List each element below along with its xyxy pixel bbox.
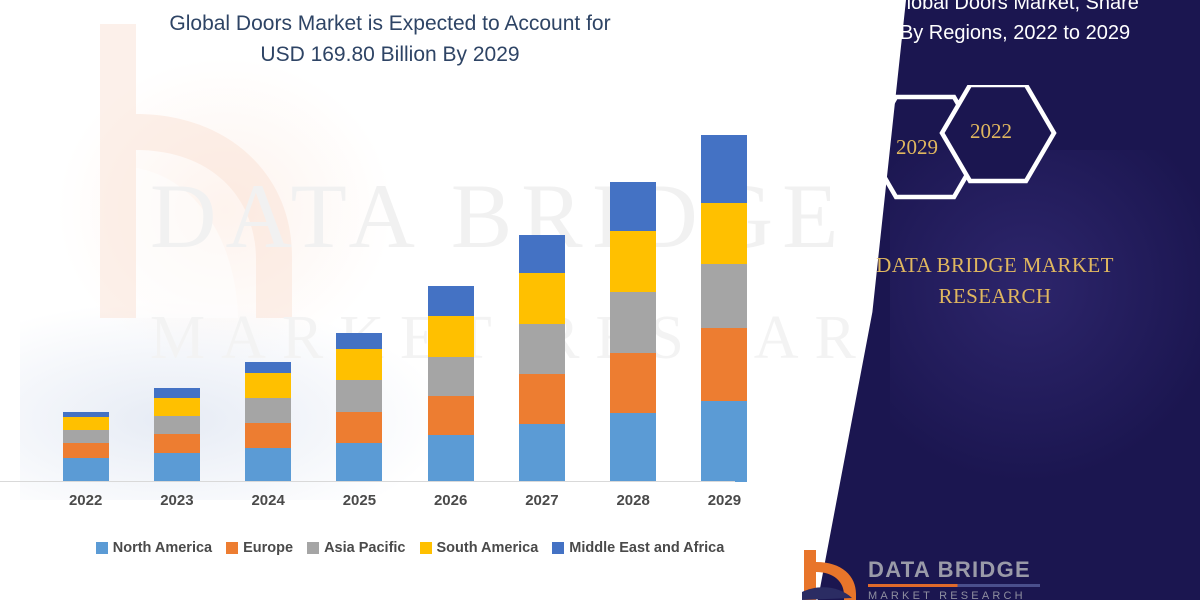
bar-segment-north-america[interactable]	[519, 424, 565, 482]
b-logo-icon	[800, 548, 858, 600]
bar-segment-asia-pacific[interactable]	[154, 416, 200, 434]
x-axis-label-2023: 2023	[132, 492, 222, 518]
chart-legend: North AmericaEuropeAsia PacificSouth Ame…	[40, 540, 780, 556]
bar-column-2023[interactable]	[132, 111, 222, 482]
legend-label: Europe	[243, 540, 293, 556]
bar-group	[40, 111, 770, 482]
x-axis-labels: 20222023202420252026202720282029	[40, 492, 770, 518]
bar-segment-asia-pacific[interactable]	[63, 430, 109, 443]
legend-item-north-america[interactable]: North America	[96, 540, 212, 556]
bar-column-2022[interactable]	[41, 111, 131, 482]
stacked-bar[interactable]	[610, 182, 656, 482]
bar-segment-south-america[interactable]	[154, 398, 200, 416]
plot-area	[40, 110, 770, 482]
bar-segment-middle-east-and-africa[interactable]	[245, 362, 291, 373]
bar-segment-europe[interactable]	[428, 396, 474, 435]
bar-segment-south-america[interactable]	[428, 316, 474, 357]
brand-name: DATA BRIDGE MARKET RESEARCH	[820, 250, 1170, 312]
bar-segment-europe[interactable]	[610, 353, 656, 413]
x-axis-label-2028: 2028	[588, 492, 678, 518]
bar-segment-europe[interactable]	[701, 328, 747, 401]
bar-segment-north-america[interactable]	[701, 401, 747, 482]
chart-title-line-1: Global Doors Market is Expected to Accou…	[60, 8, 720, 39]
legend-label: South America	[437, 540, 539, 556]
x-axis-line	[0, 481, 735, 482]
bar-segment-north-america[interactable]	[336, 443, 382, 482]
bar-segment-middle-east-and-africa[interactable]	[428, 286, 474, 316]
legend-swatch-icon	[96, 542, 108, 554]
bar-segment-north-america[interactable]	[63, 458, 109, 482]
footer-logo-rule	[868, 584, 1040, 587]
legend-item-europe[interactable]: Europe	[226, 540, 293, 556]
hexagon-2029-label: 2029	[896, 135, 938, 160]
stacked-bar[interactable]	[63, 412, 109, 482]
x-axis-label-2022: 2022	[41, 492, 131, 518]
bar-segment-europe[interactable]	[519, 374, 565, 424]
bar-column-2024[interactable]	[223, 111, 313, 482]
chart-title-line-2: USD 169.80 Billion By 2029	[60, 39, 720, 70]
stacked-bar[interactable]	[245, 362, 291, 482]
hexagon-2022-label: 2022	[970, 119, 1012, 144]
legend-item-south-america[interactable]: South America	[420, 540, 539, 556]
bar-segment-south-america[interactable]	[610, 231, 656, 292]
infographic-root: DATA BRIDGE MARKET RESEARCH Global Doors…	[0, 0, 1200, 600]
bar-segment-middle-east-and-africa[interactable]	[701, 135, 747, 203]
bar-segment-asia-pacific[interactable]	[245, 398, 291, 423]
bar-segment-europe[interactable]	[154, 434, 200, 453]
bar-segment-middle-east-and-africa[interactable]	[336, 333, 382, 349]
brand-panel-title-line-2: By Regions, 2022 to 2029	[840, 18, 1190, 48]
stacked-bar[interactable]	[428, 286, 474, 482]
bar-segment-south-america[interactable]	[701, 203, 747, 264]
footer-logo: DATA BRIDGE MARKET RESEARCH	[800, 548, 1200, 600]
legend-item-middle-east-and-africa[interactable]: Middle East and Africa	[552, 540, 724, 556]
page-title: Global Doors Market is Expected to Accou…	[60, 8, 720, 70]
bar-segment-middle-east-and-africa[interactable]	[519, 235, 565, 273]
bar-column-2026[interactable]	[406, 111, 496, 482]
legend-swatch-icon	[552, 542, 564, 554]
brand-panel-title: Global Doors Market, Share By Regions, 2…	[840, 0, 1190, 48]
x-axis-label-2029: 2029	[679, 492, 769, 518]
legend-label: Asia Pacific	[324, 540, 405, 556]
bar-segment-south-america[interactable]	[63, 417, 109, 430]
brand-panel: Global Doors Market, Share By Regions, 2…	[780, 0, 1200, 600]
stacked-bar[interactable]	[701, 135, 747, 482]
footer-logo-sub: MARKET RESEARCH	[868, 590, 1040, 600]
bar-segment-asia-pacific[interactable]	[336, 380, 382, 412]
stacked-bar[interactable]	[154, 388, 200, 482]
bar-segment-middle-east-and-africa[interactable]	[154, 388, 200, 398]
bar-segment-south-america[interactable]	[336, 349, 382, 380]
bar-column-2025[interactable]	[314, 111, 404, 482]
x-axis-label-2026: 2026	[406, 492, 496, 518]
stacked-bar[interactable]	[336, 333, 382, 482]
footer-logo-main: DATA BRIDGE	[868, 558, 1040, 582]
bar-segment-europe[interactable]	[245, 423, 291, 448]
bar-segment-asia-pacific[interactable]	[519, 324, 565, 374]
brand-name-line-1: DATA BRIDGE MARKET	[820, 250, 1170, 281]
legend-label: Middle East and Africa	[569, 540, 724, 556]
hexagon-badges: 2029 2022	[810, 85, 1200, 220]
bar-column-2027[interactable]	[497, 111, 587, 482]
bar-segment-europe[interactable]	[63, 443, 109, 458]
footer-logo-words: DATA BRIDGE MARKET RESEARCH	[868, 548, 1040, 600]
bar-segment-middle-east-and-africa[interactable]	[610, 182, 656, 231]
bar-column-2029[interactable]	[679, 111, 769, 482]
bar-segment-europe[interactable]	[336, 412, 382, 443]
stacked-bar[interactable]	[519, 235, 565, 482]
legend-swatch-icon	[420, 542, 432, 554]
brand-panel-title-line-1: Global Doors Market, Share	[840, 0, 1190, 18]
bar-segment-north-america[interactable]	[428, 435, 474, 482]
legend-label: North America	[113, 540, 212, 556]
brand-name-line-2: RESEARCH	[820, 281, 1170, 312]
legend-swatch-icon	[307, 542, 319, 554]
legend-swatch-icon	[226, 542, 238, 554]
bar-segment-asia-pacific[interactable]	[701, 264, 747, 328]
x-axis-label-2027: 2027	[497, 492, 587, 518]
x-axis-label-2024: 2024	[223, 492, 313, 518]
x-axis-label-2025: 2025	[314, 492, 404, 518]
bar-segment-south-america[interactable]	[519, 273, 565, 324]
legend-item-asia-pacific[interactable]: Asia Pacific	[307, 540, 405, 556]
bar-segment-asia-pacific[interactable]	[428, 357, 474, 396]
bar-column-2028[interactable]	[588, 111, 678, 482]
bar-segment-north-america[interactable]	[154, 453, 200, 482]
bar-segment-south-america[interactable]	[245, 373, 291, 398]
chart-panel: DATA BRIDGE MARKET RESEARCH Global Doors…	[0, 0, 900, 600]
hexagon-outline-icons	[810, 85, 1200, 220]
bar-segment-north-america[interactable]	[245, 448, 291, 482]
bar-segment-asia-pacific[interactable]	[610, 292, 656, 353]
bar-segment-north-america[interactable]	[610, 413, 656, 482]
